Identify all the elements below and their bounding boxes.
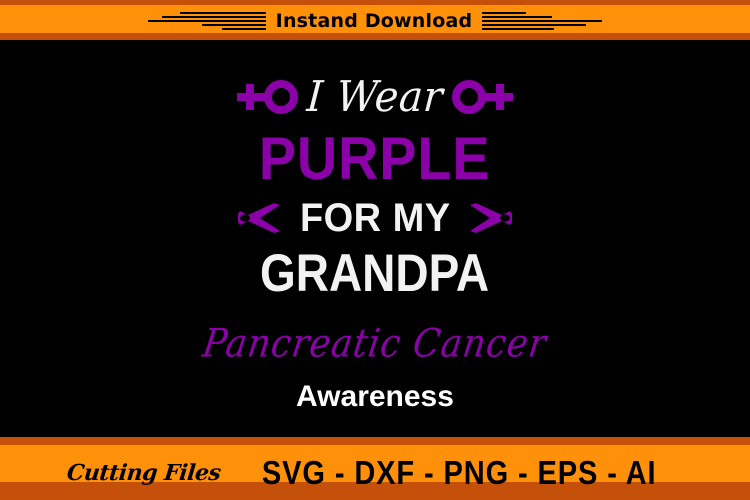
design-line-awareness: Awareness [296, 364, 454, 414]
venus-symbol-right-icon [451, 80, 513, 114]
right-rule-decoration-icon [482, 12, 602, 30]
left-rule-decoration-icon [148, 12, 266, 30]
top-banner-content: Instand Download [0, 5, 750, 38]
purple-text: PURPLE [259, 124, 491, 194]
design-line-for-my: FOR MY [238, 198, 513, 238]
pancreatic-cancer-text: Pancreatic Cancer [200, 322, 550, 367]
cutting-files-label: Cutting Files [66, 460, 222, 486]
bottom-banner-content: Cutting Files SVG - DXF - PNG - EPS - AI [0, 454, 750, 491]
awareness-text: Awareness [296, 380, 454, 414]
bottom-banner-upper-stripe [0, 437, 750, 445]
instant-download-label: Instand Download [276, 10, 473, 32]
design-line-i-wear: I Wear [237, 71, 513, 123]
top-banner: Instand Download [0, 0, 750, 40]
awareness-ribbon-left-icon [238, 203, 282, 233]
awareness-ribbon-right-icon [468, 203, 512, 233]
file-formats-label: SVG - DXF - PNG - EPS - AI [261, 454, 656, 492]
grandpa-text: GRANDPA [260, 243, 489, 304]
i-wear-text: I Wear [305, 73, 444, 122]
design-line-pancreatic-cancer: Pancreatic Cancer [203, 302, 547, 364]
design-line-purple: PURPLE [254, 123, 495, 192]
design-line-grandpa: GRANDPA [250, 238, 499, 302]
for-my-text: FOR MY [300, 196, 451, 241]
bottom-banner: Cutting Files SVG - DXF - PNG - EPS - AI [0, 437, 750, 500]
poster-canvas: Instand Download I Wear PURPLE [0, 0, 750, 500]
venus-symbol-left-icon [237, 80, 299, 114]
tshirt-design-artwork: I Wear PURPLE FOR MY [0, 40, 750, 437]
